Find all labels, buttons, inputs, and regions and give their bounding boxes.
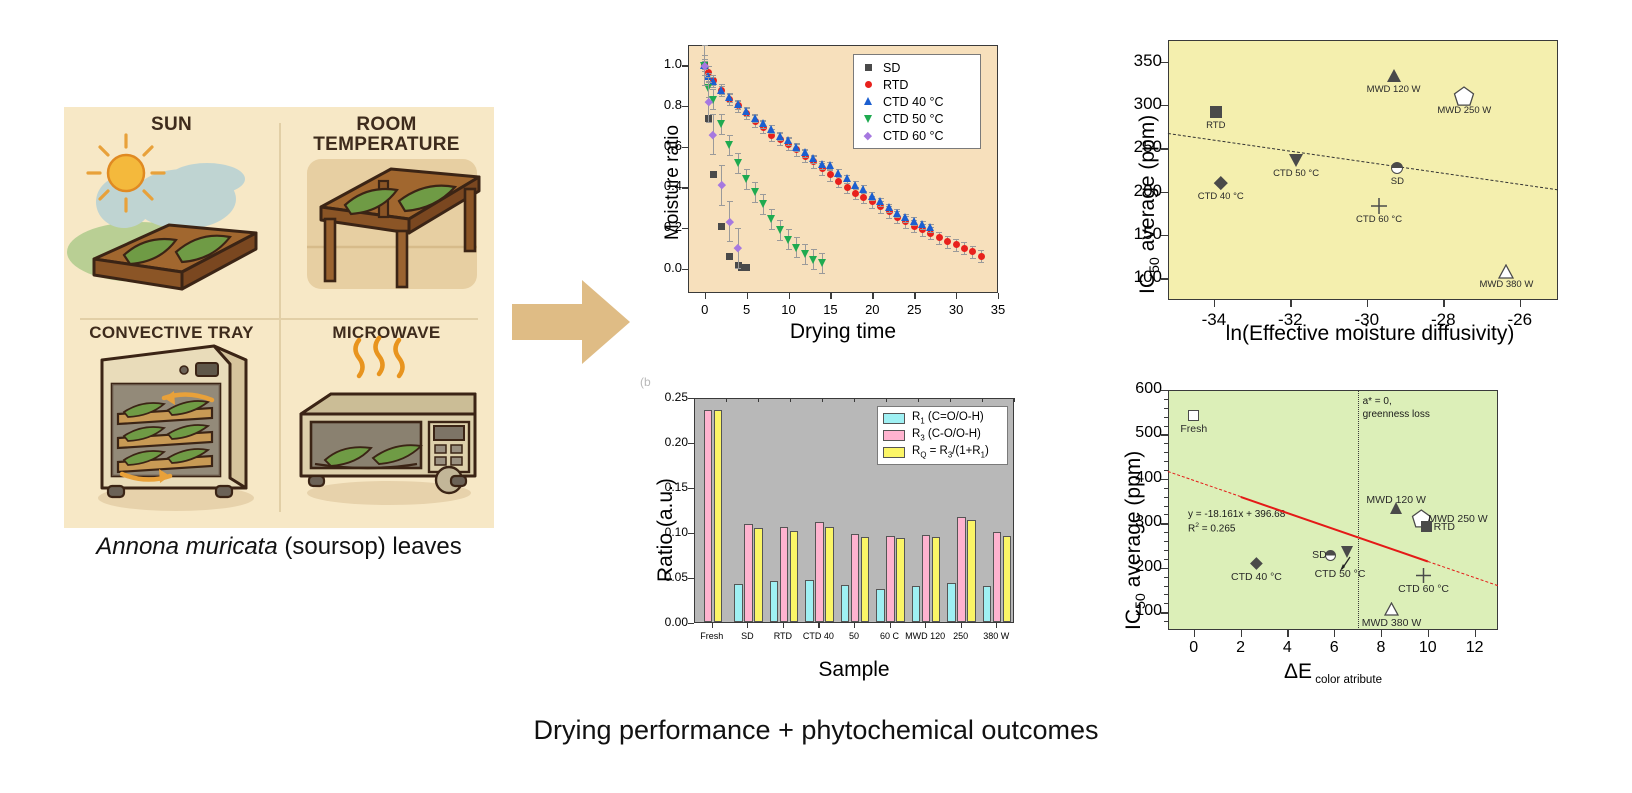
data-point-square-filled xyxy=(1421,521,1432,532)
y-minor-tick xyxy=(1164,541,1168,542)
bar xyxy=(770,581,779,622)
bar xyxy=(815,522,824,622)
illustration-panel-convective-tray: CONVECTIVE TRAY xyxy=(64,318,279,529)
point-label: SD xyxy=(1352,176,1442,187)
y-tick-mark xyxy=(1161,523,1168,524)
data-point-diamond xyxy=(701,61,709,69)
plot-area xyxy=(1168,40,1558,300)
bar xyxy=(1003,536,1012,622)
error-cap xyxy=(727,241,733,242)
legend-label: R1 (C=O/O-H) xyxy=(912,411,984,425)
series-ctd-60-c xyxy=(640,30,1060,360)
axis-tick-label: 100 xyxy=(1116,602,1162,620)
bar xyxy=(896,538,905,622)
bar xyxy=(734,584,743,622)
legend-label: R3 (C-O/O-H) xyxy=(912,428,981,442)
bar xyxy=(922,535,931,622)
sun-tray-icon xyxy=(64,107,279,317)
data-point-diamond xyxy=(726,217,734,225)
axis-tick-label: 2 xyxy=(1221,639,1261,657)
y-minor-tick xyxy=(1164,488,1168,489)
x-axis-label: ΔE color atribute xyxy=(1168,660,1498,686)
bar xyxy=(983,586,992,622)
x-tick-mark-top xyxy=(822,398,823,402)
axis-tick-label: 300 xyxy=(1114,94,1162,114)
point-label: MWD 250 W xyxy=(1419,105,1509,116)
axis-tick-label: 4 xyxy=(1267,639,1307,657)
chart-moisture-ratio: Moisture ratio Drying time SDRTDCTD 40 °… xyxy=(640,30,1060,360)
y-minor-tick xyxy=(1164,443,1168,444)
bar xyxy=(780,527,789,622)
legend-swatch xyxy=(883,447,905,458)
axis-tick-label: 380 W xyxy=(970,631,1022,641)
point-label: SD xyxy=(1249,549,1327,561)
y-tick-mark xyxy=(1161,62,1168,63)
axis-tick-label: -34 xyxy=(1192,310,1236,330)
x-tick-mark xyxy=(961,623,962,628)
bar xyxy=(967,520,976,622)
data-point-square-open xyxy=(1188,410,1199,421)
greenness-annotation-line1: a* = 0, xyxy=(1363,396,1430,409)
axis-tick-label: 350 xyxy=(1114,51,1162,71)
y-minor-tick xyxy=(1164,497,1168,498)
x-tick-mark xyxy=(1428,630,1429,637)
data-point-diamond xyxy=(705,98,713,106)
data-point-diamond xyxy=(718,181,726,189)
x-tick-mark xyxy=(1241,630,1242,637)
point-label: RTD xyxy=(1434,521,1514,533)
y-tick-mark xyxy=(688,623,694,624)
regression-equation: y = -18.161x + 396.68 xyxy=(1188,509,1285,522)
data-point-diamond xyxy=(709,130,717,138)
point-label: RTD xyxy=(1171,120,1261,131)
axis-tick-label: 0.05 xyxy=(646,570,688,584)
tray-dryer-icon xyxy=(64,318,279,528)
x-tick-mark xyxy=(1367,300,1368,307)
x-tick-mark xyxy=(925,623,926,628)
greenness-threshold-line xyxy=(1358,390,1359,630)
data-point-triangle-up-filled xyxy=(1387,69,1401,82)
illustration-panel-sun: SUN xyxy=(64,107,279,318)
axis-tick-label: 300 xyxy=(1116,513,1162,531)
y-minor-tick xyxy=(1164,399,1168,400)
y-minor-tick xyxy=(1164,621,1168,622)
x-tick-mark xyxy=(1475,630,1476,637)
bar xyxy=(841,585,850,622)
y-tick-mark xyxy=(688,578,694,579)
right-arrow xyxy=(512,276,632,368)
y-minor-tick xyxy=(1164,559,1168,560)
y-tick-mark xyxy=(1161,612,1168,613)
x-tick-mark xyxy=(1381,630,1382,637)
axis-tick-label: 250 xyxy=(1114,137,1162,157)
bar xyxy=(744,524,753,622)
bar xyxy=(957,517,966,622)
bar xyxy=(825,527,834,622)
x-tick-mark-top xyxy=(726,398,727,402)
y-tick-mark xyxy=(1161,235,1168,236)
y-minor-tick xyxy=(1164,408,1168,409)
data-point-triangle-down-filled xyxy=(1289,154,1303,167)
error-cap xyxy=(719,165,725,166)
callout-arrow xyxy=(1339,556,1353,577)
y-tick-mark xyxy=(1161,148,1168,149)
error-cap xyxy=(735,228,741,229)
y-tick-mark xyxy=(688,533,694,534)
bar xyxy=(932,537,941,622)
axis-tick-label: 0.20 xyxy=(646,435,688,449)
error-cap xyxy=(710,114,716,115)
axis-tick-label: -28 xyxy=(1421,310,1465,330)
axis-tick-label: 0.10 xyxy=(646,525,688,539)
y-tick-mark xyxy=(1161,568,1168,569)
axis-tick-label: 600 xyxy=(1116,380,1162,398)
bar xyxy=(704,410,713,622)
panel-tag: (b xyxy=(640,375,651,389)
y-minor-tick xyxy=(1164,417,1168,418)
axis-tick-label: 200 xyxy=(1116,558,1162,576)
legend-item: R1 (C=O/O-H) xyxy=(883,410,1002,427)
x-tick-mark-top xyxy=(758,398,759,402)
axis-tick-label: 0.25 xyxy=(646,390,688,404)
drying-methods-illustration: SUN ROOM TEMPERATURE xyxy=(64,107,494,528)
point-label: CTD 40 °C xyxy=(1176,191,1266,202)
bar xyxy=(805,580,814,622)
y-minor-tick xyxy=(1164,594,1168,595)
x-tick-mark-top xyxy=(694,398,695,402)
x-tick-mark-top xyxy=(1014,398,1015,402)
x-tick-mark xyxy=(1443,300,1444,307)
y-minor-tick xyxy=(1164,550,1168,551)
error-cap xyxy=(706,82,712,83)
x-tick-mark xyxy=(1214,300,1215,307)
x-tick-mark xyxy=(1194,630,1195,637)
chart-ftir-ratios: (b Ratio (a.u.) Sample R1 (C=O/O-H)R3 (C… xyxy=(632,370,1062,690)
y-tick-mark xyxy=(1161,105,1168,106)
error-cap xyxy=(727,201,733,202)
bar xyxy=(876,589,885,622)
y-minor-tick xyxy=(1164,506,1168,507)
x-tick-mark-top xyxy=(982,398,983,402)
error-cap xyxy=(702,45,708,46)
error-cap xyxy=(719,205,725,206)
x-tick-mark xyxy=(712,623,713,628)
error-cap xyxy=(702,85,708,86)
chart-ic50-vs-diffusivity: IC50 average (ppm) ln(Effective moisture… xyxy=(1110,22,1615,362)
axis-tick-label: -32 xyxy=(1268,310,1312,330)
point-label: CTD 60 °C xyxy=(1334,214,1424,225)
y-minor-tick xyxy=(1164,577,1168,578)
axis-tick-label: 8 xyxy=(1361,639,1401,657)
data-point-square-filled xyxy=(1210,106,1222,118)
greenness-annotation-line2: greenness loss xyxy=(1363,409,1430,422)
axis-tick-label: 0.15 xyxy=(646,480,688,494)
point-label: MWD 120 W xyxy=(1349,84,1439,95)
x-tick-mark-top xyxy=(950,398,951,402)
point-label: MWD 380 W xyxy=(1347,617,1437,629)
legend-item: RQ = R3/(1+R1) xyxy=(883,444,1002,461)
y-tick-mark xyxy=(688,488,694,489)
axis-tick-label: 200 xyxy=(1114,181,1162,201)
illustration-panel-room-temperature: ROOM TEMPERATURE xyxy=(279,107,494,318)
bar xyxy=(993,532,1002,622)
error-cap xyxy=(706,122,712,123)
legend-item: R3 (C-O/O-H) xyxy=(883,427,1002,444)
x-tick-mark xyxy=(1520,300,1521,307)
point-label: MWD 120 W xyxy=(1351,494,1441,506)
tagline: Drying performance + phytochemical outco… xyxy=(0,715,1632,746)
axis-tick-label: 150 xyxy=(1114,224,1162,244)
bar xyxy=(714,410,723,622)
chart-ic50-vs-deltae: IC50 average (ppm) ΔE color atribute y =… xyxy=(1100,372,1610,692)
x-tick-mark-top xyxy=(886,398,887,402)
axis-tick-label: 0.00 xyxy=(646,615,688,629)
y-tick-mark xyxy=(1161,479,1168,480)
x-tick-mark xyxy=(996,623,997,628)
x-tick-mark xyxy=(854,623,855,628)
axis-tick-label: 10 xyxy=(1408,639,1448,657)
table-leaves-icon xyxy=(279,107,494,317)
x-tick-mark-top xyxy=(918,398,919,402)
point-label: CTD 50 °C xyxy=(1251,168,1341,179)
axis-tick-label: 12 xyxy=(1455,639,1495,657)
x-tick-mark xyxy=(1287,630,1288,637)
axis-tick-label: 0 xyxy=(1174,639,1214,657)
y-tick-mark xyxy=(1161,192,1168,193)
x-tick-mark-top xyxy=(790,398,791,402)
y-tick-mark xyxy=(1161,390,1168,391)
y-minor-tick xyxy=(1164,603,1168,604)
error-cap xyxy=(710,154,716,155)
y-minor-tick xyxy=(1164,514,1168,515)
x-tick-mark xyxy=(1290,300,1291,307)
x-tick-mark xyxy=(1334,630,1335,637)
point-label: CTD 60 °C xyxy=(1379,583,1469,595)
microwave-icon xyxy=(279,318,494,528)
regression-r2: R2 = 0.265 xyxy=(1188,522,1285,536)
x-axis-label: Sample xyxy=(694,658,1014,682)
x-tick-mark xyxy=(747,623,748,628)
bar xyxy=(790,531,799,622)
legend: R1 (C=O/O-H)R3 (C-O/O-H)RQ = R3/(1+R1) xyxy=(877,406,1008,465)
species-caption: Annona muricata (soursop) leaves xyxy=(64,533,494,561)
axis-tick-label: -26 xyxy=(1498,310,1542,330)
x-axis-label-pre: ΔE xyxy=(1284,660,1312,683)
data-point-diamond xyxy=(734,244,742,252)
axis-tick-label: 6 xyxy=(1314,639,1354,657)
bar xyxy=(754,528,763,623)
x-tick-mark-top xyxy=(854,398,855,402)
y-minor-tick xyxy=(1164,532,1168,533)
species-name-italic: Annona muricata xyxy=(96,533,277,560)
point-label: Fresh xyxy=(1149,423,1239,435)
y-minor-tick xyxy=(1164,586,1168,587)
legend-label: RQ = R3/(1+R1) xyxy=(912,445,989,459)
y-tick-mark xyxy=(688,443,694,444)
bar xyxy=(912,586,921,622)
axis-tick-label: -30 xyxy=(1345,310,1389,330)
bar xyxy=(947,583,956,622)
error-cap xyxy=(735,268,741,269)
x-tick-mark xyxy=(890,623,891,628)
regression-annotation: y = -18.161x + 396.68 R2 = 0.265 xyxy=(1188,509,1285,535)
point-label: CTD 40 °C xyxy=(1211,571,1301,583)
x-tick-mark xyxy=(783,623,784,628)
point-label: MWD 380 W xyxy=(1461,279,1551,290)
illustration-panel-microwave: MICROWAVE xyxy=(279,318,494,529)
bar xyxy=(851,534,860,622)
y-minor-tick xyxy=(1164,461,1168,462)
axis-tick-label: 100 xyxy=(1114,267,1162,287)
bar xyxy=(861,537,870,622)
legend-swatch xyxy=(883,413,905,424)
bar xyxy=(886,536,895,622)
axis-tick-label: 400 xyxy=(1116,469,1162,487)
legend-swatch xyxy=(883,430,905,441)
y-minor-tick xyxy=(1164,452,1168,453)
x-tick-mark xyxy=(818,623,819,628)
greenness-annotation: a* = 0,greenness loss xyxy=(1363,396,1430,421)
species-caption-rest: (soursop) leaves xyxy=(278,533,462,560)
y-tick-mark xyxy=(1161,278,1168,279)
x-axis-label-sub: color atribute xyxy=(1312,674,1382,686)
